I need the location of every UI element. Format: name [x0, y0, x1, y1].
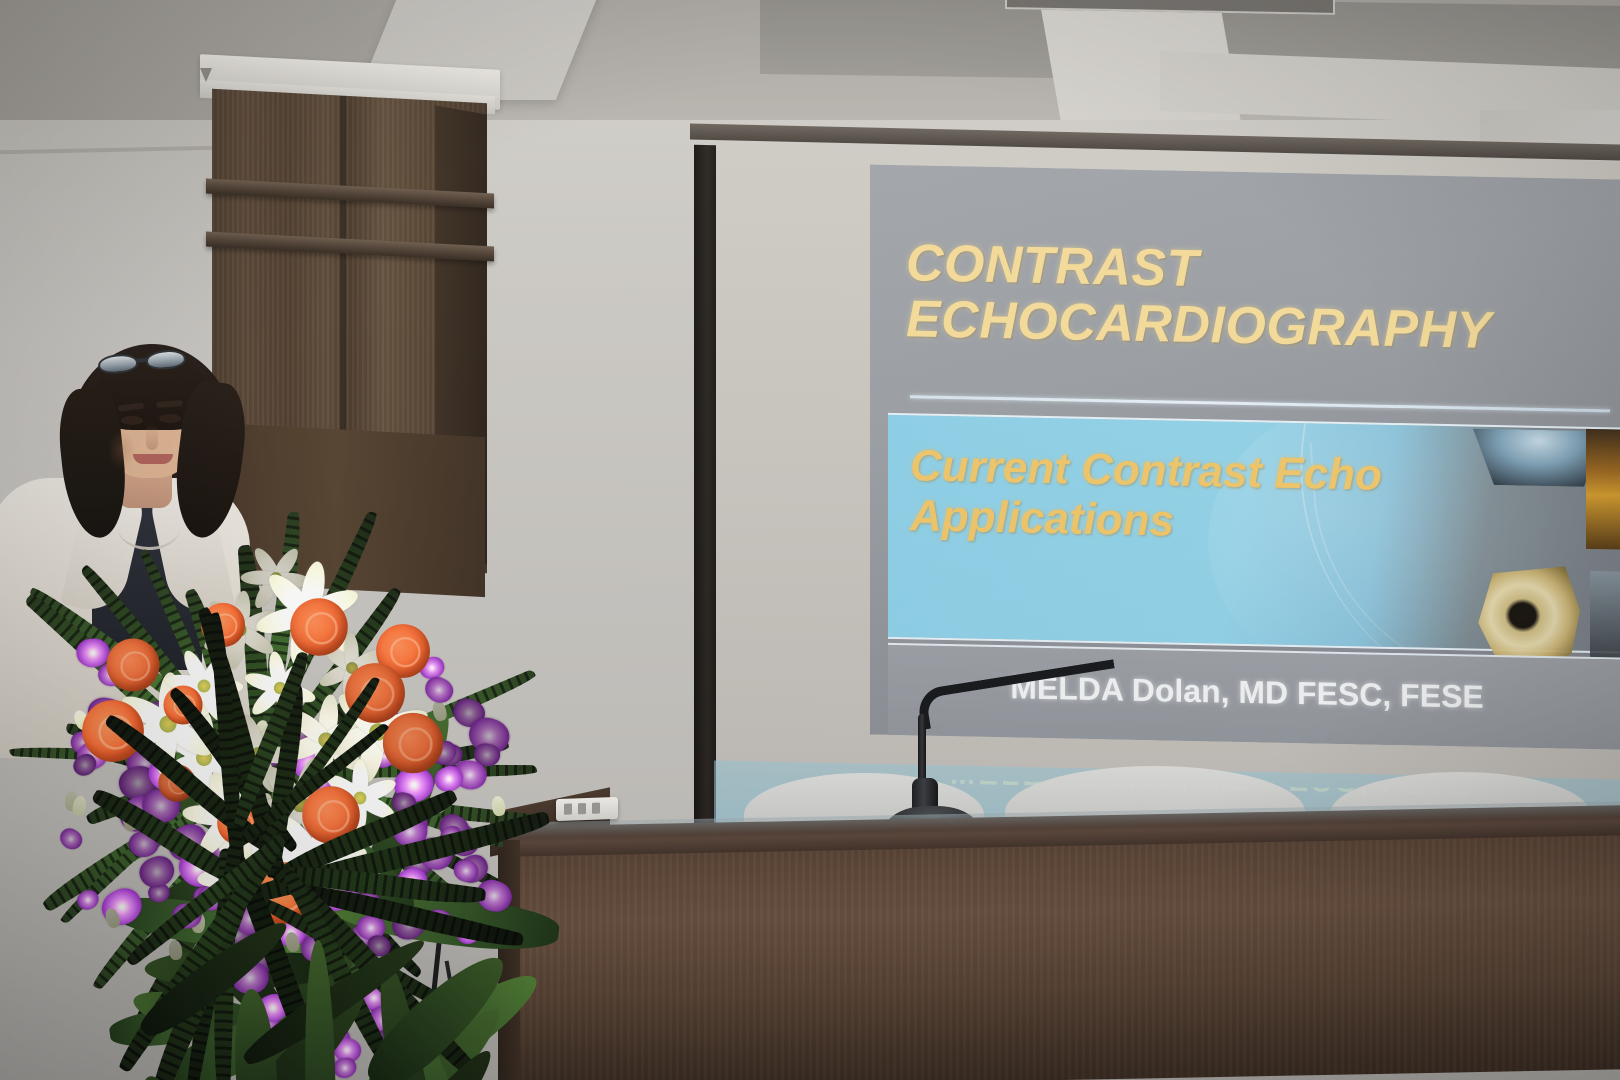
sunglasses-lens-right [145, 348, 187, 370]
orange-rose [107, 639, 160, 692]
echocardiogram-image-right [1590, 571, 1620, 668]
speaker-nose [146, 424, 158, 450]
screen-left-edge [694, 145, 716, 835]
speaker-eye-right [159, 414, 181, 423]
speaker-mouth [133, 454, 173, 464]
slide-subtitle-line-2: Applications [910, 491, 1490, 553]
speaker-cheek-shading [108, 430, 136, 470]
slide-subtitle: Current Contrast Echo Applications [910, 441, 1490, 553]
purple-orchid [56, 825, 86, 854]
podium-front-panel [508, 835, 1620, 1080]
orange-rose [383, 713, 443, 773]
slide-title: CONTRAST ECHOCARDIOGRAPHY [906, 235, 1616, 362]
microphone-stem [918, 714, 926, 786]
echocardiogram-color-doppler-strip [1586, 429, 1620, 550]
lecture-hall-photo: CONTRAST ECHOCARDIOGRAPHY Current Contra… [0, 0, 1620, 1080]
flower-arrangement [0, 470, 610, 1080]
speaker-eye-left [121, 416, 143, 425]
orange-rose [290, 598, 348, 656]
projected-slide: CONTRAST ECHOCARDIOGRAPHY Current Contra… [870, 164, 1620, 749]
slide-header: CONTRAST ECHOCARDIOGRAPHY [870, 164, 1620, 431]
sunglasses-lens-left [97, 353, 139, 375]
